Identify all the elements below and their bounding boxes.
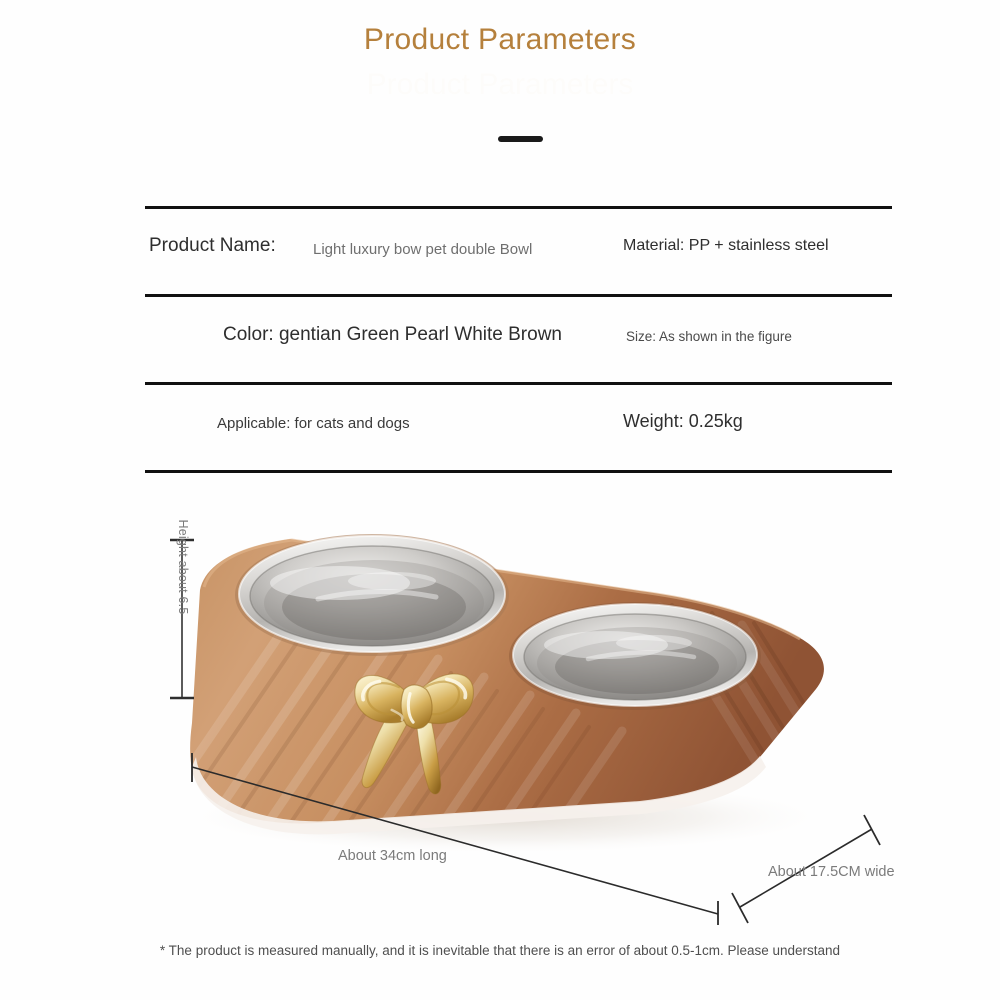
- page-title: Product Parameters: [0, 23, 1000, 57]
- steel-bowl-right: [509, 602, 761, 710]
- product-figure: [0, 495, 1000, 925]
- dimension-label-length: About 34cm long: [338, 848, 447, 864]
- page-title-watermark: Product Parameters: [0, 68, 1000, 102]
- spec-row-applicable: Applicable: for cats and dogs Weight: 0.…: [145, 385, 892, 470]
- dimension-label-width: About 17.5CM wide: [768, 864, 895, 880]
- steel-bowl-left: [235, 534, 509, 656]
- table-rule-bottom: [145, 470, 892, 473]
- spec-value-color: Color: gentian Green Pearl White Brown: [223, 324, 562, 346]
- specification-table: Product Name: Light luxury bow pet doubl…: [145, 206, 892, 473]
- spec-value-product-name: Light luxury bow pet double Bowl: [313, 241, 532, 258]
- spec-row-product-name: Product Name: Light luxury bow pet doubl…: [145, 209, 892, 294]
- measurement-disclaimer: * The product is measured manually, and …: [0, 943, 1000, 958]
- dimension-label-height: Height about 6.5: [176, 502, 190, 632]
- spec-label-product-name: Product Name:: [149, 235, 276, 257]
- spec-value-size: Size: As shown in the figure: [626, 329, 792, 344]
- spec-value-weight: Weight: 0.25kg: [623, 411, 743, 432]
- spec-value-applicable: Applicable: for cats and dogs: [217, 415, 410, 432]
- spec-value-material: Material: PP + stainless steel: [623, 237, 829, 255]
- product-parameters-page: Product Parameters Product Parameters Pr…: [0, 0, 1000, 1000]
- title-divider-dash: [498, 136, 543, 142]
- spec-row-color: Color: gentian Green Pearl White Brown S…: [145, 297, 892, 382]
